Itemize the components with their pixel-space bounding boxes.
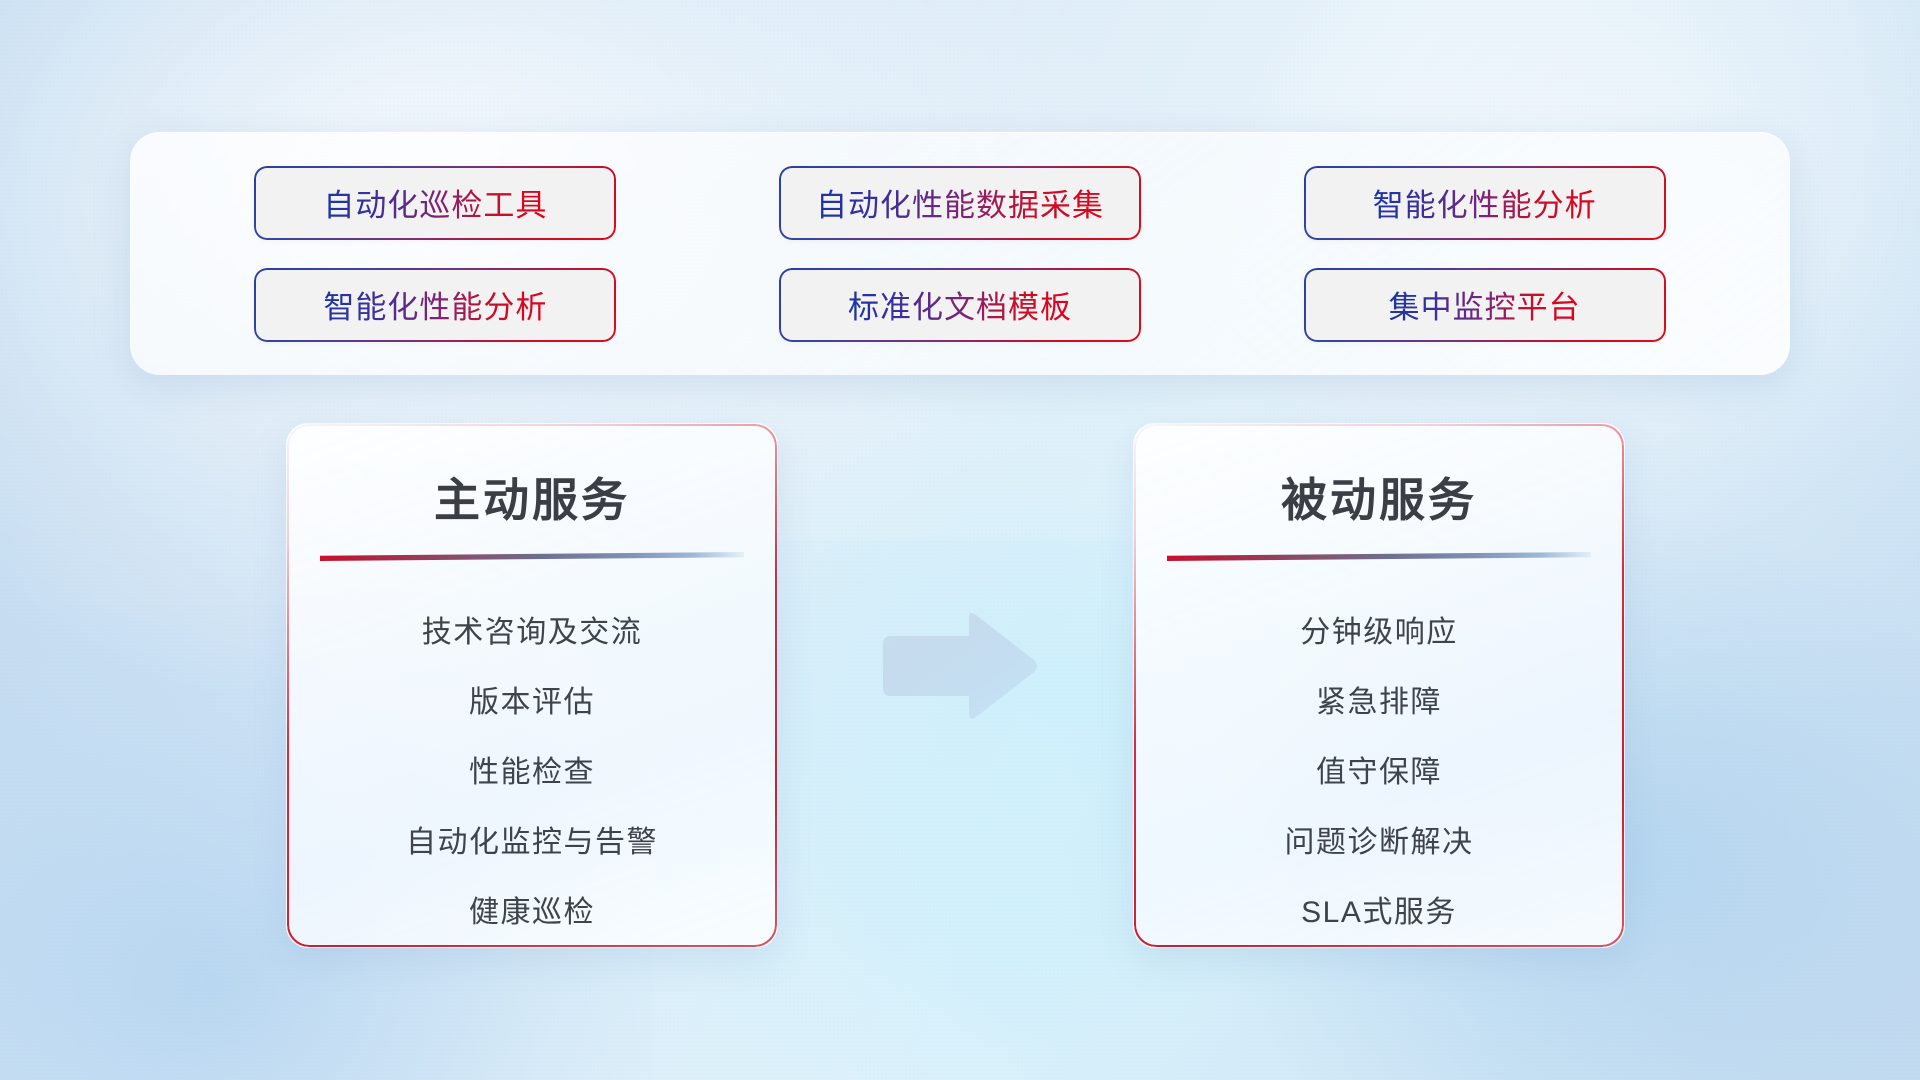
list-item[interactable]: 健康巡检 [469, 887, 595, 931]
capability-tag-label: 自动化巡检工具 [323, 180, 547, 225]
service-card-proactive: 主动服务 技术咨询及交流 版本评估 性能检查 自动化监控与告警 健康巡检 [286, 423, 778, 948]
list-item[interactable]: 版本评估 [469, 677, 595, 721]
list-item[interactable]: 技术咨询及交流 [422, 607, 643, 651]
card-item-list: 技术咨询及交流 版本评估 性能检查 自动化监控与告警 健康巡检 [287, 607, 777, 931]
capability-panel: 自动化巡检工具 自动化性能数据采集 智能化性能分析 智能化性能分析 标准化文档模… [130, 132, 1790, 375]
capability-tag-intelligent-performance-analysis-bottom[interactable]: 智能化性能分析 [256, 270, 614, 340]
list-item[interactable]: 紧急排障 [1316, 677, 1442, 721]
list-item[interactable]: 自动化监控与告警 [406, 817, 658, 861]
capability-tag-standardized-document-template[interactable]: 标准化文档模板 [781, 270, 1139, 340]
capability-tag-centralized-monitoring-platform[interactable]: 集中监控平台 [1306, 270, 1664, 340]
list-item[interactable]: 值守保障 [1316, 747, 1442, 791]
capability-tag-intelligent-performance-analysis-top[interactable]: 智能化性能分析 [1306, 168, 1664, 238]
service-card-reactive: 被动服务 分钟级响应 紧急排障 值守保障 问题诊断解决 SLA式服务 [1133, 423, 1625, 948]
arrow-right-icon [873, 610, 1039, 722]
card-item-list: 分钟级响应 紧急排障 值守保障 问题诊断解决 SLA式服务 [1134, 607, 1624, 931]
card-title-divider [320, 552, 744, 561]
list-item[interactable]: SLA式服务 [1301, 887, 1457, 931]
card-title-divider [1167, 552, 1591, 561]
list-item[interactable]: 分钟级响应 [1300, 607, 1458, 651]
capability-tag-automated-performance-data-collection[interactable]: 自动化性能数据采集 [781, 168, 1139, 238]
capability-tag-label: 智能化性能分析 [1373, 180, 1597, 225]
capability-tag-label: 智能化性能分析 [323, 282, 547, 327]
list-item[interactable]: 问题诊断解决 [1285, 817, 1474, 861]
capability-tag-label: 集中监控平台 [1389, 282, 1581, 327]
card-title: 被动服务 [1134, 464, 1624, 530]
card-title: 主动服务 [287, 464, 777, 530]
capability-tag-label: 标准化文档模板 [848, 282, 1072, 327]
capability-tag-grid: 自动化巡检工具 自动化性能数据采集 智能化性能分析 智能化性能分析 标准化文档模… [226, 168, 1694, 340]
capability-tag-automated-inspection-tool[interactable]: 自动化巡检工具 [256, 168, 614, 238]
capability-tag-label: 自动化性能数据采集 [816, 180, 1104, 225]
list-item[interactable]: 性能检查 [469, 747, 595, 791]
